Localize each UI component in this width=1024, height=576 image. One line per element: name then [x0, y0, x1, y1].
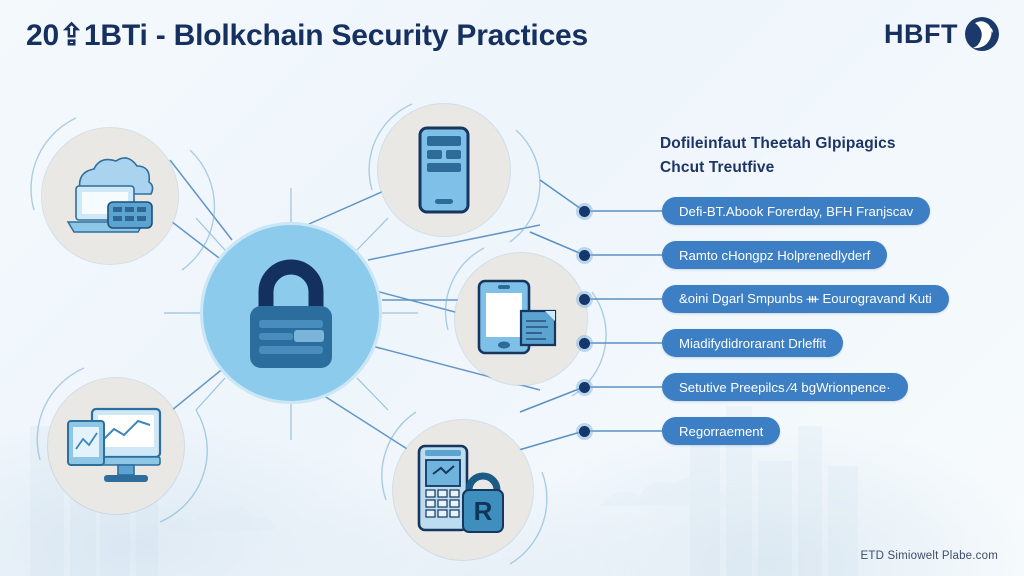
- list-item[interactable]: Ramto cHongpz Holprenedlyderf: [662, 241, 887, 269]
- panel-heading-line2: Chcut Treutfive: [660, 156, 1010, 180]
- padlock-icon: [232, 252, 350, 374]
- page-title: 20⇪1BTi - Blolkchain Security Practices: [26, 18, 588, 53]
- cloud-laptop-icon: [58, 150, 162, 242]
- connector-dot: [579, 426, 590, 437]
- payment-lock-badge: R: [474, 496, 493, 526]
- header: 20⇪1BTi - Blolkchain Security Practices …: [0, 0, 1024, 78]
- connector-dot: [579, 382, 590, 393]
- connector-dot: [579, 294, 590, 305]
- brand-logo: HBFT: [884, 14, 1002, 54]
- list-item[interactable]: Setutive Preepilcs ⁄4 bgWrionpence·: [662, 373, 908, 401]
- smartphone-icon: [416, 125, 472, 215]
- central-security-lock-node: [200, 222, 382, 404]
- brand-name: HBFT: [884, 19, 958, 50]
- desktop-analytics-node: [48, 378, 184, 514]
- tablet-document-node: [455, 253, 587, 385]
- info-panel: Dofileinfaut Theetah Glpipagics Chcut Tr…: [660, 132, 1010, 194]
- connector-dot: [579, 206, 590, 217]
- list-item[interactable]: Defi-BT.Abook Forerday, BFH Franjscav: [662, 197, 930, 225]
- panel-heading-line1: Dofileinfaut Theetah Glpipagics: [660, 135, 896, 152]
- list-item[interactable]: Regorraement: [662, 417, 780, 445]
- circle-swoosh-icon: [962, 14, 1002, 54]
- list-item[interactable]: Miadifydidrorarant Drleffit: [662, 329, 843, 357]
- list-item[interactable]: &oini Dgarl Smpunbs ᚒ Eourogravand Kuti: [662, 285, 949, 313]
- connector-dot: [579, 250, 590, 261]
- cloud-computing-node: [42, 128, 178, 264]
- tablet-document-icon: [475, 277, 567, 361]
- payment-terminal-node: R: [393, 420, 533, 560]
- connector-dot: [579, 338, 590, 349]
- mobile-device-node: [378, 104, 510, 236]
- footer-note: ETD Simiowelt Plabe.com: [860, 550, 998, 562]
- desktop-monitor-icon: [64, 403, 168, 489]
- panel-heading: Dofileinfaut Theetah Glpipagics Chcut Tr…: [660, 132, 1010, 180]
- payment-lock-icon: R: [413, 442, 513, 538]
